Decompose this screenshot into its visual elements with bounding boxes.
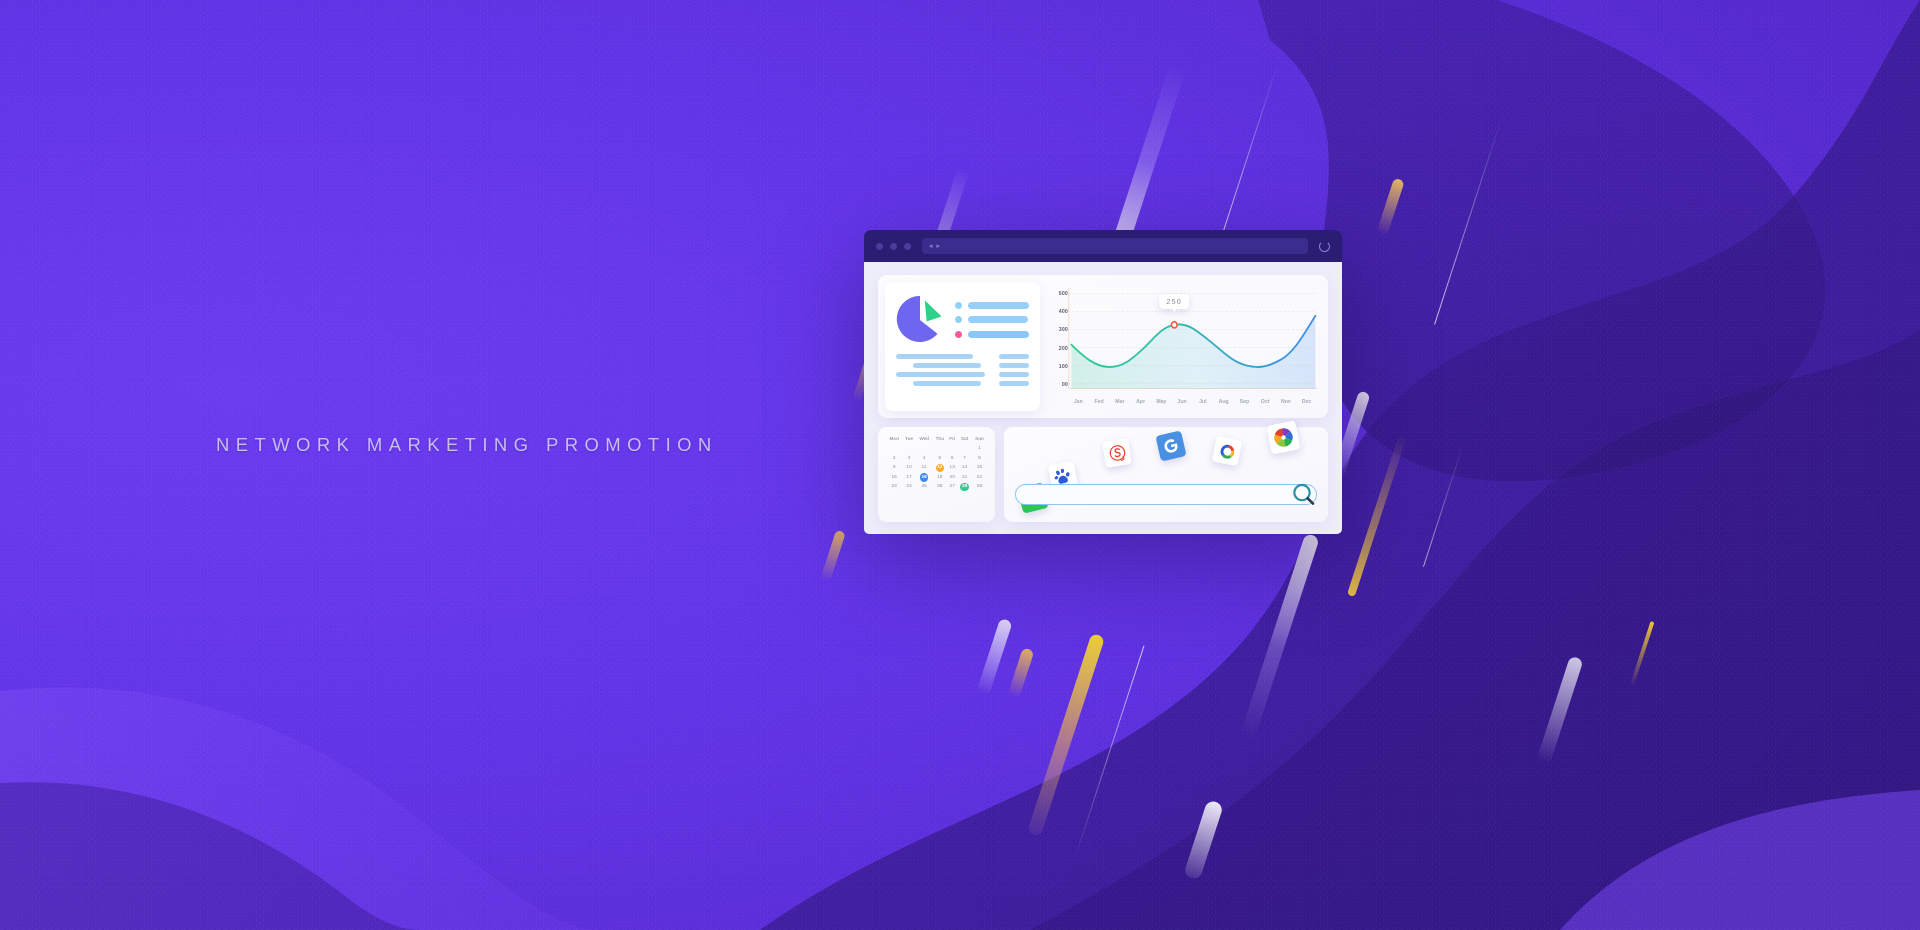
calendar-day[interactable]: 16 <box>886 473 902 483</box>
engine-360[interactable] <box>1269 423 1298 452</box>
calendar-header-row: Mon Tue Wed Thu Fri Sat Sun <box>886 436 987 444</box>
x-tick: Nov <box>1276 399 1297 405</box>
placeholder-line <box>896 372 985 377</box>
y-tick: 200 <box>1046 346 1068 352</box>
page-title: NETWORK MARKETING PROMOTION <box>216 434 718 456</box>
close-dot[interactable] <box>876 243 883 250</box>
calendar-week-row: 2 3 4 5 6 7 8 <box>886 454 987 464</box>
uc-ring-icon <box>1216 440 1238 462</box>
x-tick: May <box>1151 399 1172 405</box>
placeholder-line <box>999 381 1029 386</box>
calendar-day[interactable] <box>916 444 933 454</box>
engine-sogou[interactable] <box>1104 440 1130 466</box>
search-input[interactable] <box>1016 486 1316 505</box>
legend-item <box>955 316 1029 323</box>
weekday-header: Sat <box>957 436 972 444</box>
legend-item <box>955 331 1029 338</box>
legend-dot <box>955 331 962 338</box>
y-tick: 100 <box>1046 364 1068 370</box>
calendar-day[interactable] <box>902 444 916 454</box>
calendar-day-highlight-orange: 12 <box>936 464 945 473</box>
calendar-day[interactable]: 9 <box>886 463 902 473</box>
calendar-day[interactable]: 5 <box>932 454 947 464</box>
calendar-day[interactable]: 27 <box>947 482 957 492</box>
calendar-day[interactable]: 20 <box>947 473 957 483</box>
calendar-day[interactable]: 2 <box>886 454 902 464</box>
chart-x-axis: Jan Fed Mar Apr May Jun Jul Aug Sep Oct … <box>1068 394 1317 409</box>
window-traffic-lights[interactable] <box>876 243 911 250</box>
calendar-day[interactable]: 29 <box>972 482 987 492</box>
chart-y-axis: 500 400 300 200 100 00 <box>1046 288 1068 409</box>
google-icon <box>1160 435 1182 457</box>
calendar-day[interactable]: 11 <box>916 463 933 473</box>
browser-titlebar: ◂ ▸ <box>864 230 1342 262</box>
calendar-day-highlight-green: 28 <box>960 483 969 492</box>
reload-icon[interactable] <box>1319 241 1330 252</box>
chart-plot-wrapper: 250 Jan Fed Mar Apr May Jun Jul Aug Sep … <box>1068 288 1317 409</box>
line-chart-card: 500 400 300 200 100 00 <box>1044 282 1321 411</box>
x-tick: Jul <box>1193 399 1214 405</box>
placeholder-line <box>913 381 981 386</box>
engine-google[interactable] <box>1158 433 1184 459</box>
nav-arrows[interactable]: ◂ ▸ <box>929 243 940 250</box>
x-tick: Mar <box>1110 399 1131 405</box>
qihoo360-aperture-icon <box>1270 424 1297 451</box>
pie-legend <box>955 301 1029 338</box>
calendar-day-selected[interactable]: 18 <box>916 473 933 483</box>
legend-bar <box>968 316 1028 323</box>
calendar-day[interactable]: 4 <box>916 454 933 464</box>
x-tick: Aug <box>1213 399 1234 405</box>
weekday-header: Tue <box>902 436 916 444</box>
browser-mockup: ◂ ▸ <box>864 230 1342 534</box>
weekday-header: Sun <box>972 436 987 444</box>
forward-icon[interactable]: ▸ <box>937 243 941 250</box>
calendar-day[interactable]: 24 <box>902 482 916 492</box>
chart-marker-point <box>1171 322 1177 328</box>
calendar-week-row: 23 24 25 26 27 28 29 <box>886 482 987 492</box>
calendar-day[interactable]: 15 <box>972 463 987 473</box>
x-tick: Jun <box>1172 399 1193 405</box>
legend-dot <box>955 316 962 323</box>
calendar-day[interactable]: 17 <box>902 473 916 483</box>
search-input-wrapper[interactable] <box>1015 484 1317 505</box>
weekday-header: Wed <box>916 436 933 444</box>
sogou-icon <box>1106 442 1128 464</box>
calendar-week-row: 9 10 11 12 13 14 15 <box>886 463 987 473</box>
magnifier-icon <box>1289 480 1319 510</box>
calendar-day[interactable] <box>886 444 902 454</box>
calendar-day[interactable]: 1 <box>972 444 987 454</box>
calendar-day[interactable]: 19 <box>932 473 947 483</box>
legend-bar <box>968 302 1029 309</box>
calendar-day-highlight-blue: 18 <box>920 473 929 482</box>
weekday-header: Thu <box>932 436 947 444</box>
calendar-widget[interactable]: Mon Tue Wed Thu Fri Sat Sun <box>878 427 995 522</box>
calendar-day[interactable]: 22 <box>972 473 987 483</box>
search-engines-card <box>1004 427 1328 522</box>
calendar-day-selected[interactable]: 12 <box>932 463 947 473</box>
placeholder-line <box>999 363 1029 368</box>
calendar-day[interactable] <box>932 444 947 454</box>
x-tick: Sep <box>1234 399 1255 405</box>
chart-tooltip: 250 <box>1159 294 1189 309</box>
placeholder-lines-left <box>896 354 990 386</box>
minimize-dot[interactable] <box>890 243 897 250</box>
pie-with-legend <box>896 295 1029 343</box>
calendar-day[interactable]: 25 <box>916 482 933 492</box>
placeholder-line <box>896 354 973 359</box>
y-tick: 00 <box>1046 382 1068 388</box>
calendar-day[interactable]: 8 <box>972 454 987 464</box>
calendar-day[interactable]: 7 <box>957 454 972 464</box>
calendar-day[interactable] <box>957 444 972 454</box>
x-tick: Fed <box>1089 399 1110 405</box>
chart-area-fill <box>1071 316 1315 389</box>
x-tick: Dec <box>1296 399 1317 405</box>
calendar-table: Mon Tue Wed Thu Fri Sat Sun <box>886 436 987 492</box>
weekday-header: Mon <box>886 436 902 444</box>
calendar-day-selected[interactable]: 28 <box>957 482 972 492</box>
legend-bar <box>968 331 1029 338</box>
calendar-week-row: 1 <box>886 444 987 454</box>
calendar-body: 1 2 3 4 5 6 7 8 9 10 <box>886 444 987 492</box>
analytics-panel: 500 400 300 200 100 00 <box>878 275 1328 418</box>
legend-dot <box>955 302 962 309</box>
calendar-day[interactable]: 23 <box>886 482 902 492</box>
calendar-day[interactable]: 3 <box>902 454 916 464</box>
placeholder-lines-right <box>999 354 1029 386</box>
calendar-day[interactable]: 14 <box>957 463 972 473</box>
pie-chart <box>896 295 944 343</box>
placeholder-line <box>999 372 1029 377</box>
weekday-header: Fri <box>947 436 957 444</box>
chart-plot-area: 250 <box>1068 288 1317 394</box>
engine-uc[interactable] <box>1214 438 1240 464</box>
search-button[interactable] <box>1289 480 1319 515</box>
url-bar[interactable]: ◂ ▸ <box>922 238 1308 254</box>
placeholder-line <box>913 363 981 368</box>
browser-viewport: 500 400 300 200 100 00 <box>864 262 1342 534</box>
calendar-day[interactable]: 6 <box>947 454 957 464</box>
calendar-day[interactable]: 10 <box>902 463 916 473</box>
maximize-dot[interactable] <box>904 243 911 250</box>
y-tick: 400 <box>1046 309 1068 315</box>
y-tick: 500 <box>1046 291 1068 297</box>
x-tick: Jan <box>1068 399 1089 405</box>
calendar-day[interactable]: 26 <box>932 482 947 492</box>
bottom-row: Mon Tue Wed Thu Fri Sat Sun <box>878 427 1328 522</box>
pie-summary-card <box>885 282 1040 411</box>
calendar-day[interactable]: 21 <box>957 473 972 483</box>
placeholder-text-block <box>896 354 1029 386</box>
y-tick: 300 <box>1046 327 1068 333</box>
back-icon[interactable]: ◂ <box>929 243 933 250</box>
x-tick: Oct <box>1255 399 1276 405</box>
placeholder-line <box>999 354 1029 359</box>
x-tick: Apr <box>1130 399 1151 405</box>
calendar-week-row: 16 17 18 19 20 21 22 <box>886 473 987 483</box>
calendar-day[interactable]: 13 <box>947 463 957 473</box>
calendar-day[interactable] <box>947 444 957 454</box>
legend-item <box>955 302 1029 309</box>
